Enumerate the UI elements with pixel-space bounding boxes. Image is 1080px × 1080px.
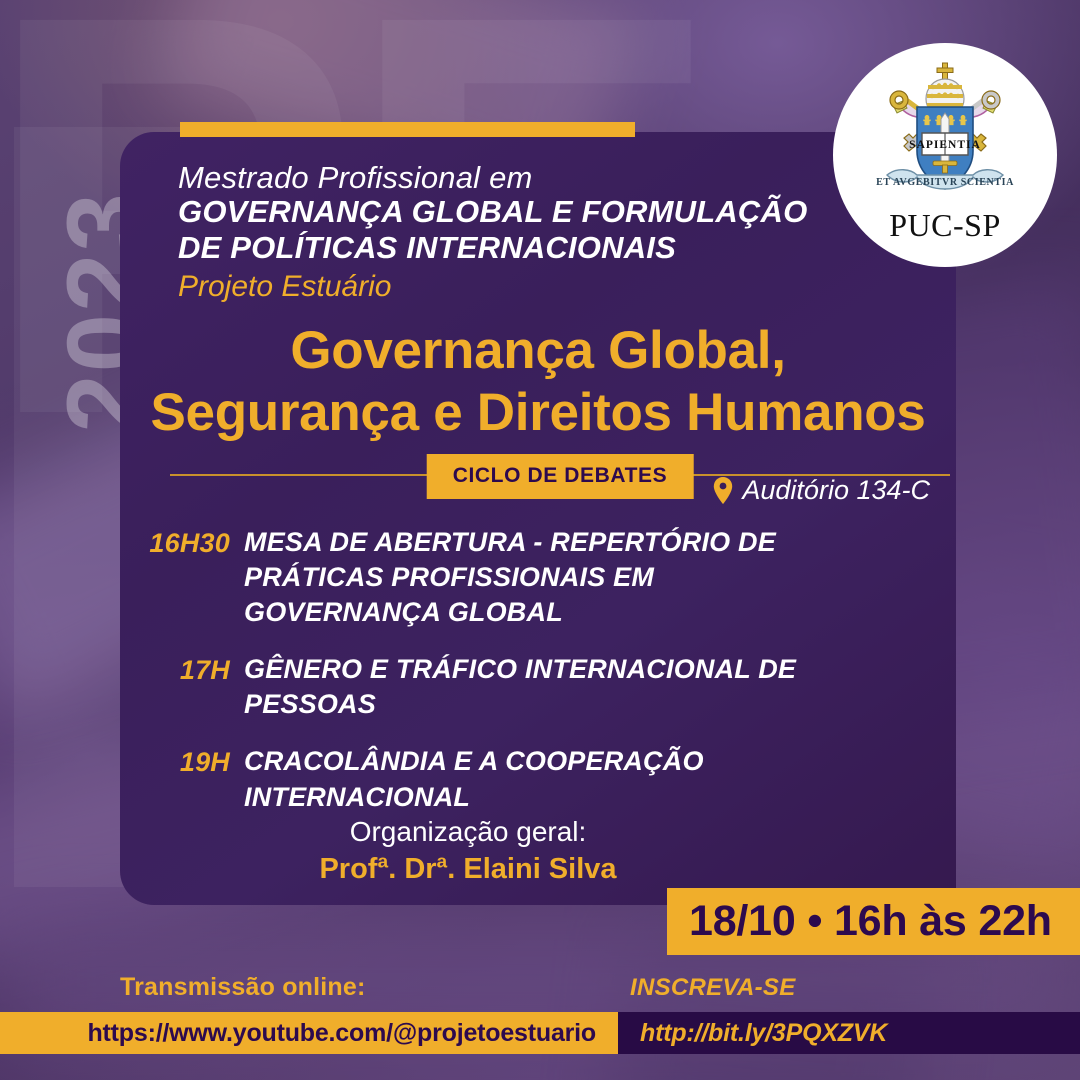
- schedule-time: 16H30: [120, 525, 244, 561]
- event-title-line2: Segurança e Direitos Humanos: [126, 382, 950, 444]
- schedule-list: 16H30 MESA DE ABERTURA - REPERTÓRIO DE P…: [120, 525, 956, 815]
- date-time-text: 18/10 • 16h às 22h: [689, 897, 1052, 946]
- subproject-name: Projeto Estuário: [178, 270, 391, 304]
- organization-block: Organização geral: Profª. Drª. Elaini Si…: [120, 814, 956, 890]
- gold-top-accent-bar: [180, 122, 635, 137]
- venue: Auditório 134-C: [713, 475, 930, 506]
- schedule-topic: MESA DE ABERTURA - REPERTÓRIO DE PRÁTICA…: [244, 525, 854, 630]
- puc-sp-coat-of-arms-icon: SAPIENTIA ET AVGEBITVR SCIENTIA: [869, 57, 1021, 209]
- stream-url[interactable]: https://www.youtube.com/@projetoestuario: [87, 1019, 596, 1048]
- venue-label: Auditório 134-C: [742, 475, 930, 506]
- ciclo-de-debates-badge: CICLO DE DEBATES: [427, 454, 694, 499]
- poster-canvas: PE 2023 Mestrado Profissional em GOVERNA…: [0, 0, 1080, 1080]
- program-name-line2: DE POLÍTICAS INTERNACIONAIS: [178, 230, 938, 266]
- signup-label: INSCREVA-SE: [630, 974, 796, 1002]
- main-content-card: Mestrado Profissional em GOVERNANÇA GLOB…: [120, 132, 956, 905]
- date-time-banner: 18/10 • 16h às 22h: [667, 888, 1080, 955]
- signup-url[interactable]: http://bit.ly/3PQXZVK: [640, 1019, 887, 1048]
- ribbon-motto: ET AVGEBITVR SCIENTIA: [876, 177, 1014, 188]
- program-name: GOVERNANÇA GLOBAL E FORMULAÇÃO DE POLÍTI…: [178, 194, 938, 266]
- schedule-time: 17H: [120, 652, 244, 688]
- organization-label: Organização geral:: [120, 814, 816, 850]
- program-name-line1: GOVERNANÇA GLOBAL E FORMULAÇÃO: [178, 194, 938, 230]
- schedule-row: 17H GÊNERO E TRÁFICO INTERNACIONAL DE PE…: [120, 652, 936, 722]
- event-title-line1: Governança Global,: [126, 320, 950, 382]
- shield-word: SAPIENTIA: [909, 139, 981, 151]
- location-pin-icon: [713, 477, 733, 504]
- program-kicker: Mestrado Profissional em: [178, 160, 533, 196]
- schedule-time: 19H: [120, 744, 244, 780]
- puc-sp-logo: SAPIENTIA ET AVGEBITVR SCIENTIA PUC-SP: [833, 43, 1057, 267]
- logo-wordmark: PUC-SP: [889, 207, 1001, 244]
- schedule-topic: GÊNERO E TRÁFICO INTERNACIONAL DE PESSOA…: [244, 652, 854, 722]
- event-title: Governança Global, Segurança e Direitos …: [120, 320, 956, 444]
- schedule-row: 19H CRACOLÂNDIA E A COOPERAÇÃO INTERNACI…: [120, 744, 936, 814]
- organization-name: Profª. Drª. Elaini Silva: [120, 850, 816, 889]
- schedule-topic: CRACOLÂNDIA E A COOPERAÇÃO INTERNACIONAL: [244, 744, 854, 814]
- stream-url-bar[interactable]: https://www.youtube.com/@projetoestuario: [0, 1012, 618, 1054]
- stream-label: Transmissão online:: [120, 973, 366, 1002]
- signup-url-bar[interactable]: http://bit.ly/3PQXZVK: [618, 1012, 1080, 1054]
- schedule-row: 16H30 MESA DE ABERTURA - REPERTÓRIO DE P…: [120, 525, 936, 630]
